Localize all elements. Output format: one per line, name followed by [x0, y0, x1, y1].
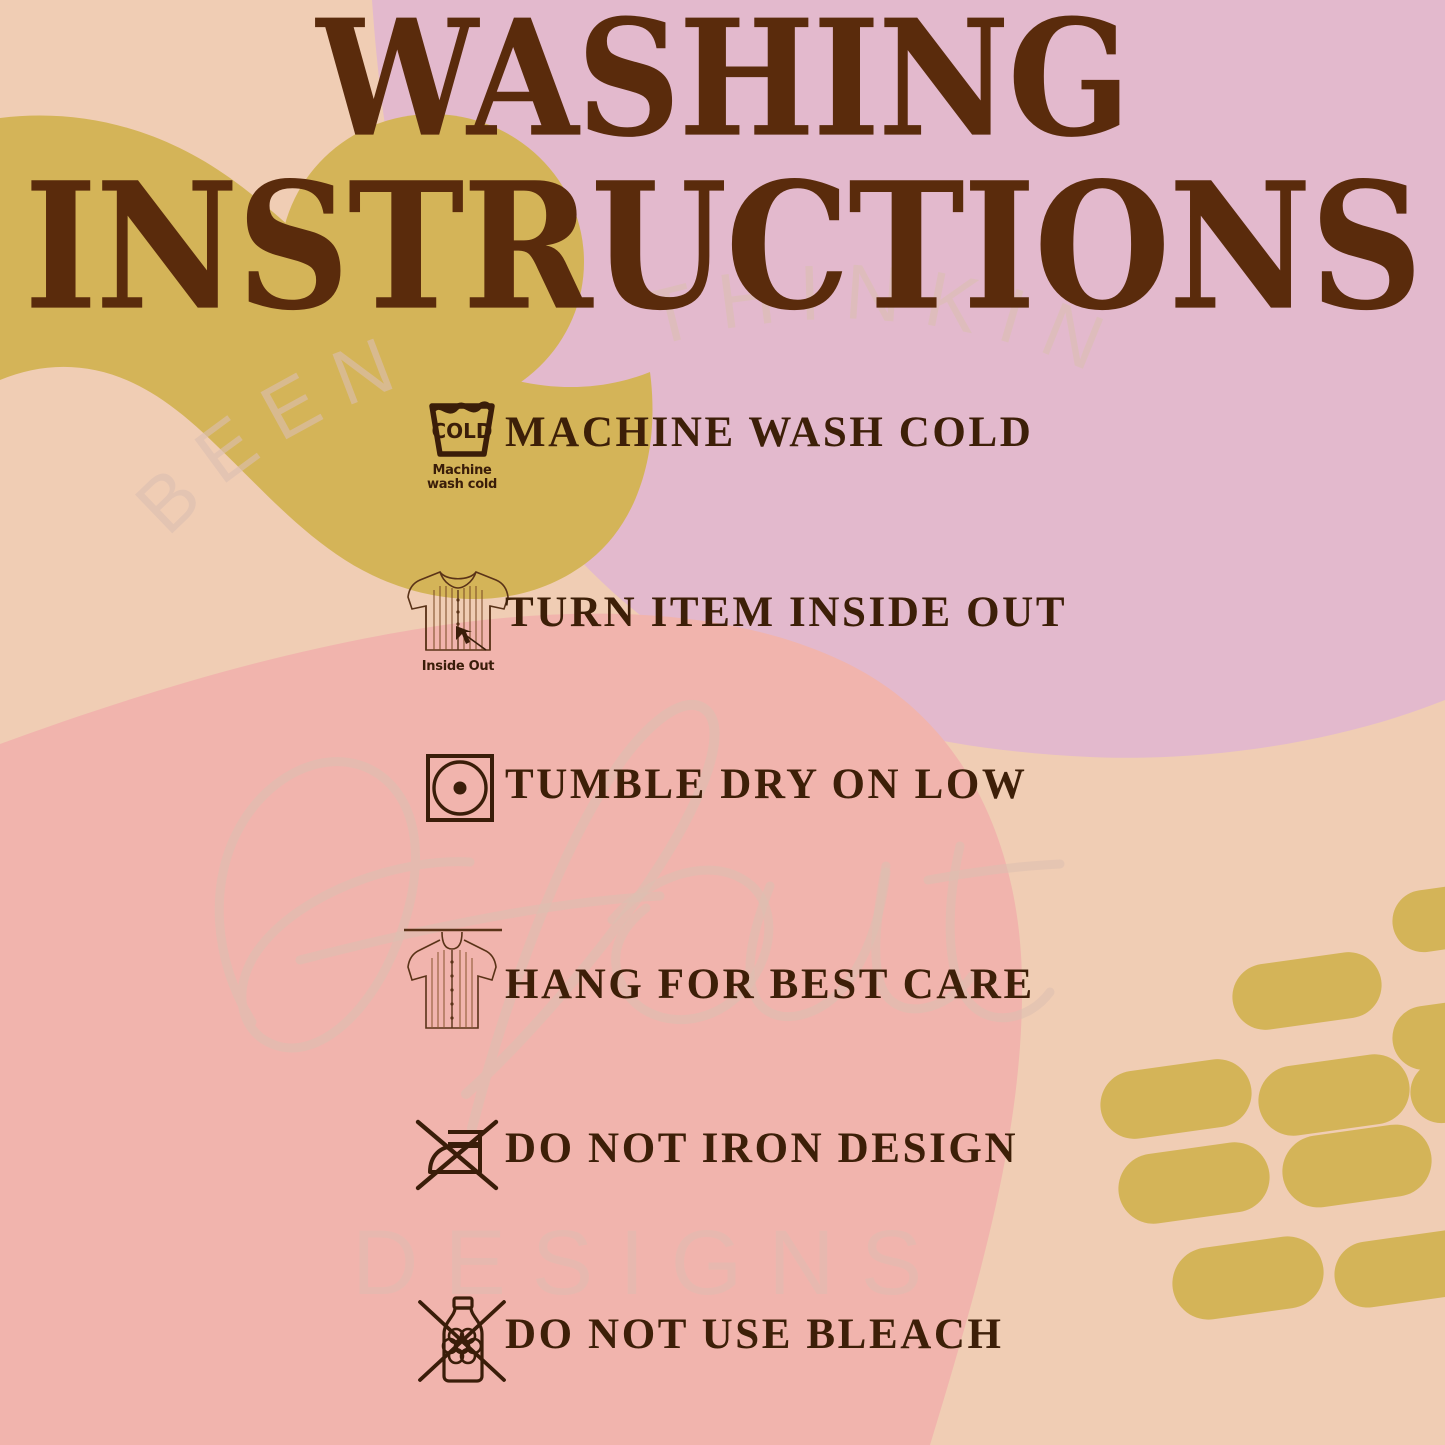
care-instruction-list: COLD Machine wash cold MACHINE WASH COLD [0, 380, 1445, 1445]
care-row-hang-dry: HANG FOR BEST CARE [0, 920, 1445, 1100]
machine-wash-cold-caption: Machine wash cold [427, 464, 497, 493]
washing-instructions-poster: BEEN THINKIN DESIGNS WASHING INSTRUCTION… [0, 0, 1445, 1445]
caption-line-2: wash cold [427, 477, 497, 492]
hanging-shirt-icon [390, 916, 514, 1038]
watermark-thinkin: THINKIN [637, 247, 1136, 395]
care-row-machine-wash-cold: COLD Machine wash cold MACHINE WASH COLD [0, 380, 1445, 560]
wash-tub-icon: COLD [424, 394, 500, 460]
iron-crossed-icon [410, 1114, 506, 1198]
label-do-not-iron-design: DO NOT IRON DESIGN [505, 1124, 1018, 1173]
inside-out-caption: Inside Out [422, 660, 494, 674]
label-tumble-dry-low: TUMBLE DRY ON LOW [505, 760, 1028, 809]
label-hang-for-best-care: HANG FOR BEST CARE [505, 960, 1035, 1009]
tumble-dry-square-icon [420, 748, 500, 828]
care-row-do-not-iron: DO NOT IRON DESIGN [0, 1100, 1445, 1280]
care-row-turn-inside-out: Inside Out TURN ITEM INSIDE OUT [0, 560, 1445, 740]
label-turn-inside-out: TURN ITEM INSIDE OUT [505, 588, 1067, 637]
bleach-bottle-crossed-icon [414, 1288, 510, 1392]
label-do-not-use-bleach: DO NOT USE BLEACH [505, 1310, 1004, 1359]
label-machine-wash-cold: MACHINE WASH COLD [505, 408, 1033, 457]
care-row-tumble-dry-low: TUMBLE DRY ON LOW [0, 740, 1445, 920]
care-row-do-not-bleach: DO NOT USE BLEACH [0, 1280, 1445, 1445]
caption-line-1: Inside Out [422, 659, 494, 674]
cold-badge-text: COLD [431, 419, 492, 443]
caption-line-1: Machine [432, 463, 491, 478]
shirt-outline-icon [404, 564, 512, 656]
